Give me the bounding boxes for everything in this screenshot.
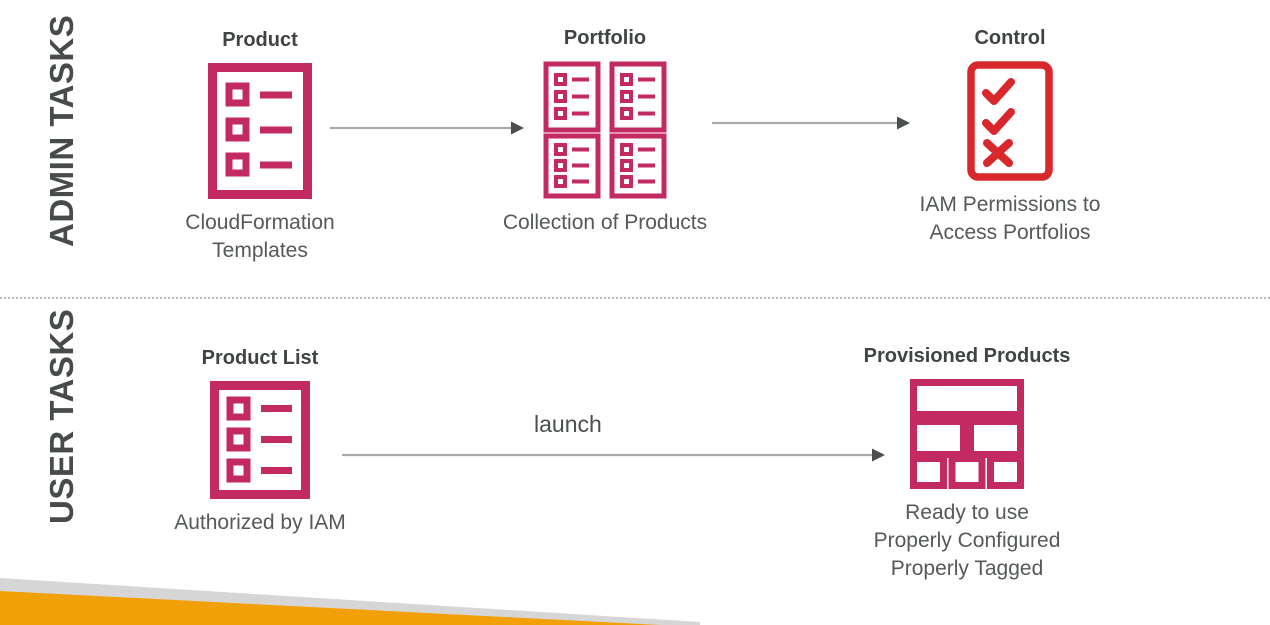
checklist-control-icon — [890, 61, 1130, 181]
node-control: Control IAM Permissions to Access Portfo… — [890, 26, 1130, 247]
arrow-launch — [342, 445, 887, 470]
section-label-admin-tasks: ADMIN TASKS — [43, 47, 81, 247]
node-provisioned-products-caption: Ready to use Properly Configured Properl… — [830, 499, 1104, 583]
node-provisioned-products: Provisioned Products Ready to use Proper… — [830, 344, 1104, 583]
node-product-list-caption: Authorized by IAM — [148, 509, 372, 537]
section-label-user-tasks: USER TASKS — [43, 344, 81, 524]
portfolio-grid-icon — [480, 61, 730, 199]
node-product-title: Product — [150, 28, 370, 53]
node-portfolio-title: Portfolio — [480, 26, 730, 51]
slide-canvas: ADMIN TASKS USER TASKS Product Cloud — [0, 0, 1270, 625]
decorative-corner-bands — [0, 565, 720, 625]
node-control-caption: IAM Permissions to Access Portfolios — [890, 191, 1130, 247]
node-portfolio-caption: Collection of Products — [480, 209, 730, 237]
node-control-title: Control — [890, 26, 1130, 51]
product-list-icon — [148, 381, 372, 499]
node-product-list-title: Product List — [148, 346, 372, 371]
node-portfolio: Portfolio — [480, 26, 730, 237]
arrow-label-launch: launch — [534, 411, 602, 438]
node-provisioned-products-title: Provisioned Products — [830, 344, 1104, 369]
node-product-list: Product List Authorized by IAM — [148, 346, 372, 537]
section-divider — [0, 297, 1270, 299]
provisioned-blocks-icon — [830, 379, 1104, 489]
arrow-portfolio-to-control — [712, 113, 912, 138]
node-product: Product CloudFormation Templates — [150, 28, 370, 265]
node-product-caption: CloudFormation Templates — [150, 209, 370, 265]
